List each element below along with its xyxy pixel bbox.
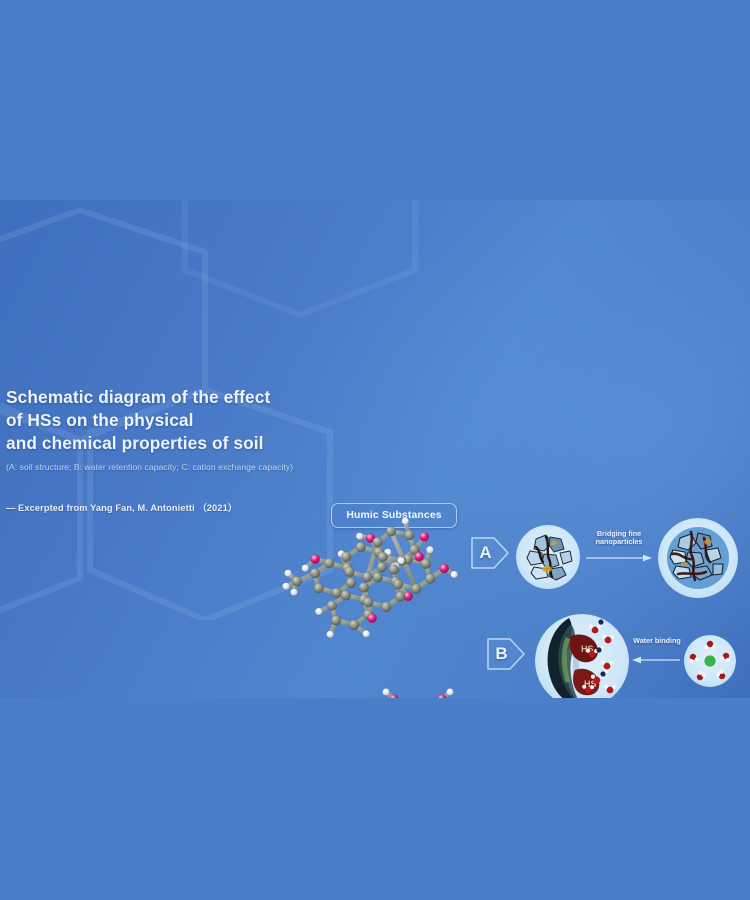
- panel-a-marker: A: [470, 534, 510, 572]
- panel-b-left-circle: HS HS: [535, 614, 629, 698]
- panel-a-arrow-label: Bridging fine nanoparticles: [584, 530, 654, 547]
- humic-substance-molecule-model: [0, 200, 750, 698]
- panel-b-marker-label: B: [486, 635, 526, 673]
- panel-a-right-circle: [658, 518, 738, 598]
- schematic-figure: Schematic diagram of the effect of HSs o…: [0, 200, 750, 698]
- panel-b-right-circle: [684, 635, 736, 687]
- panel-a-left-circle: [516, 525, 580, 589]
- panel-a-marker-label: A: [470, 534, 510, 572]
- panel-b-arrow-label: Water binding: [628, 637, 686, 645]
- letterbox-band-top: [0, 0, 750, 200]
- panel-b-marker: B: [486, 635, 526, 673]
- panel-b-arrow: [632, 654, 680, 666]
- panel-a-arrow: [586, 552, 652, 564]
- figure-stage: Schematic diagram of the effect of HSs o…: [0, 0, 750, 900]
- letterbox-band-bottom: [0, 698, 750, 900]
- cation-center: [704, 655, 715, 666]
